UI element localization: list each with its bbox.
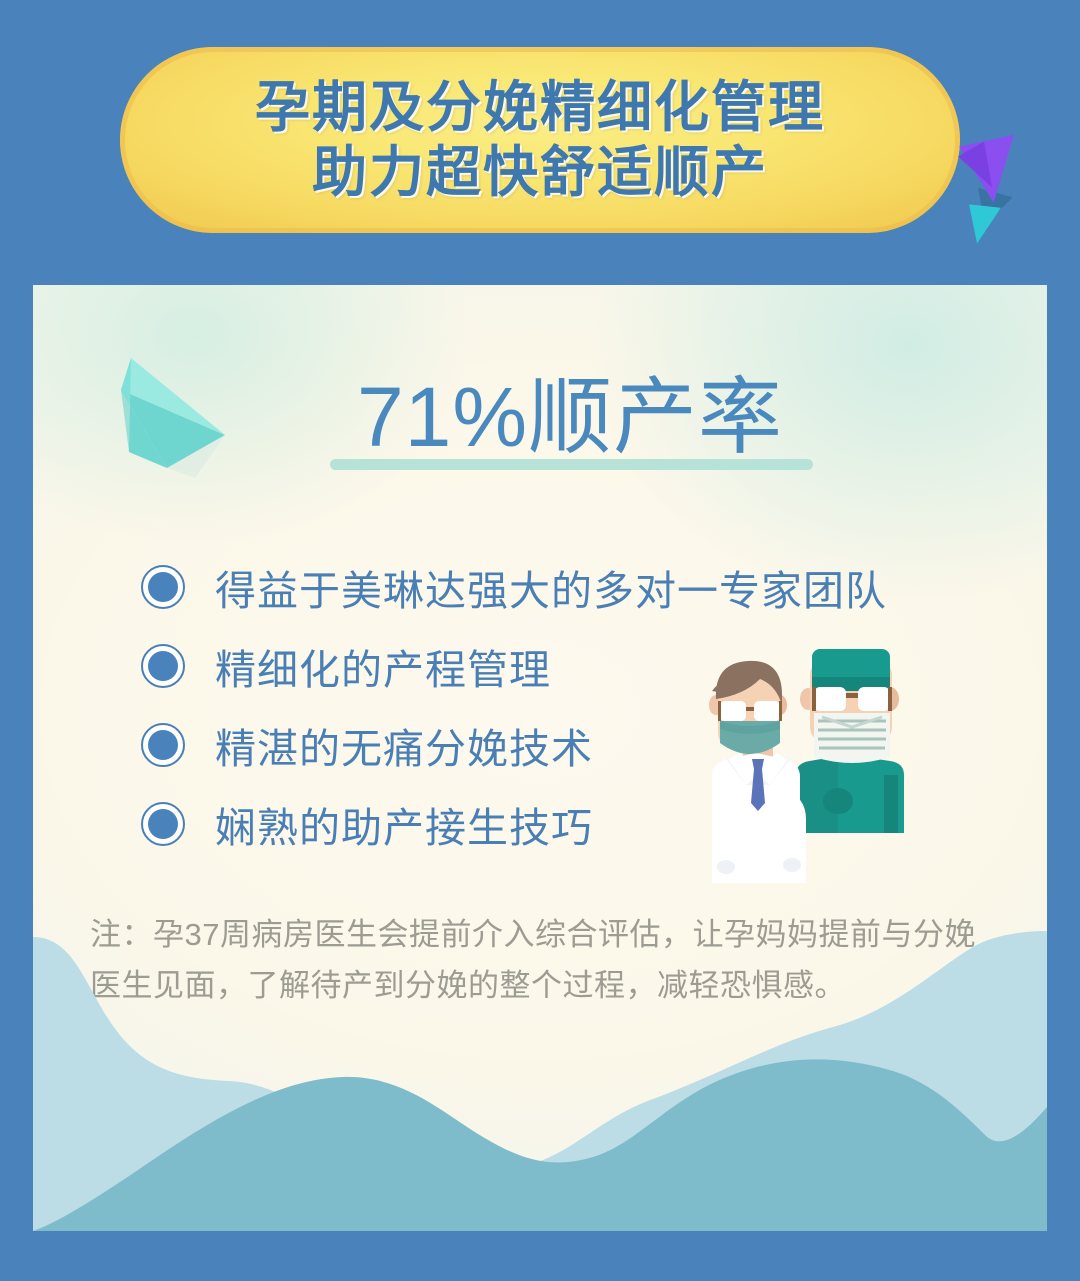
title-banner: 孕期及分娩精细化管理 助力超快舒适顺产	[120, 47, 960, 233]
paper-plane-triangle-icon	[85, 340, 245, 480]
list-item: 得益于美琳达强大的多对一专家团队	[141, 547, 941, 626]
list-item-label: 精细化的产程管理	[215, 636, 551, 696]
headline-underline	[330, 459, 813, 470]
infographic-poster: 孕期及分娩精细化管理 助力超快舒适顺产 71%顺产率 得益于美	[0, 0, 1080, 1281]
banner-title-line-2: 助力超快舒适顺产	[312, 140, 768, 205]
cyan-triangle-icon	[965, 204, 1001, 245]
bullet-dot-icon	[141, 565, 185, 609]
bullet-dot-icon	[141, 802, 185, 846]
purple-cyan-triangles-icon	[965, 140, 1075, 255]
headline-block: 71%顺产率	[310, 375, 830, 459]
wave-decoration	[33, 931, 1047, 1231]
two-doctors-illustration	[688, 625, 988, 890]
list-item-label: 得益于美琳达强大的多对一专家团队	[215, 557, 887, 617]
bullet-dot-icon	[141, 723, 185, 767]
list-item-label: 精湛的无痛分娩技术	[215, 715, 593, 775]
bullet-dot-icon	[141, 644, 185, 688]
content-card: 71%顺产率 得益于美琳达强大的多对一专家团队 精细化的产程管理 精湛的无痛分娩…	[33, 285, 1047, 1231]
banner-title-line-1: 孕期及分娩精细化管理	[255, 75, 825, 140]
list-item-label: 娴熟的助产接生技巧	[215, 794, 593, 854]
page-title: 71%顺产率	[310, 375, 830, 459]
